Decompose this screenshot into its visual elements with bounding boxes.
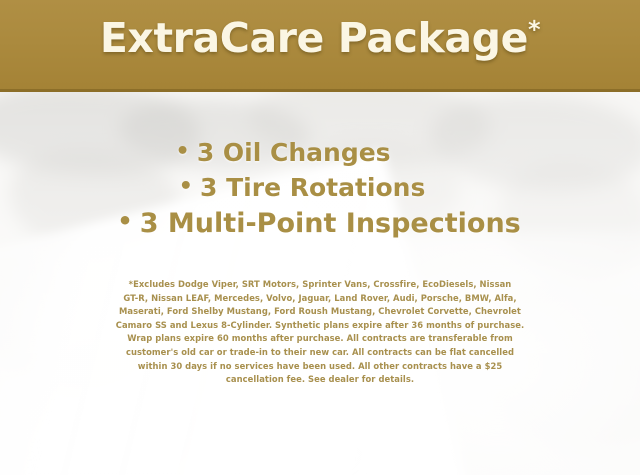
bullet-icon: • — [117, 203, 133, 239]
disclaimer-line: Wrap plans expire 60 months after purcha… — [30, 332, 610, 346]
bullet-icon: • — [179, 170, 193, 203]
benefit-item-tire-rotations: •3 Tire Rotations — [26, 171, 614, 206]
page-title-text: ExtraCare Package — [100, 14, 528, 62]
disclaimer-line: Maserati, Ford Shelby Mustang, Ford Rous… — [30, 305, 610, 319]
benefit-label: 3 Tire Rotations — [200, 173, 425, 202]
disclaimer-line: customer's old car or trade-in to their … — [30, 346, 610, 360]
ad-body: •3 Oil Changes •3 Tire Rotations •3 Mult… — [0, 92, 640, 475]
disclaimer-line: cancellation fee. See dealer for details… — [30, 373, 610, 387]
disclaimer-line: Camaro SS and Lexus 8-Cylinder. Syntheti… — [30, 319, 610, 333]
disclaimer-line: within 30 days if no services have been … — [30, 360, 610, 374]
bullet-icon: • — [175, 135, 189, 168]
header-band: ExtraCare Package* — [0, 0, 640, 92]
benefits-list: •3 Oil Changes •3 Tire Rotations •3 Mult… — [0, 136, 640, 242]
benefit-label: 3 Oil Changes — [197, 138, 391, 167]
benefit-item-oil-changes: •3 Oil Changes — [26, 136, 614, 171]
disclaimer-fine-print: *Excludes Dodge Viper, SRT Motors, Sprin… — [30, 278, 610, 387]
page-title: ExtraCare Package* — [0, 14, 640, 62]
title-asterisk: * — [528, 15, 540, 43]
extracare-package-ad: ExtraCare Package* •3 Oil Changes •3 Tir… — [0, 0, 640, 475]
disclaimer-line: GT-R, Nissan LEAF, Mercedes, Volvo, Jagu… — [30, 292, 610, 306]
disclaimer-line: *Excludes Dodge Viper, SRT Motors, Sprin… — [30, 278, 610, 292]
benefit-label: 3 Multi-Point Inspections — [140, 208, 521, 239]
benefit-item-multi-point-inspections: •3 Multi-Point Inspections — [26, 206, 614, 242]
